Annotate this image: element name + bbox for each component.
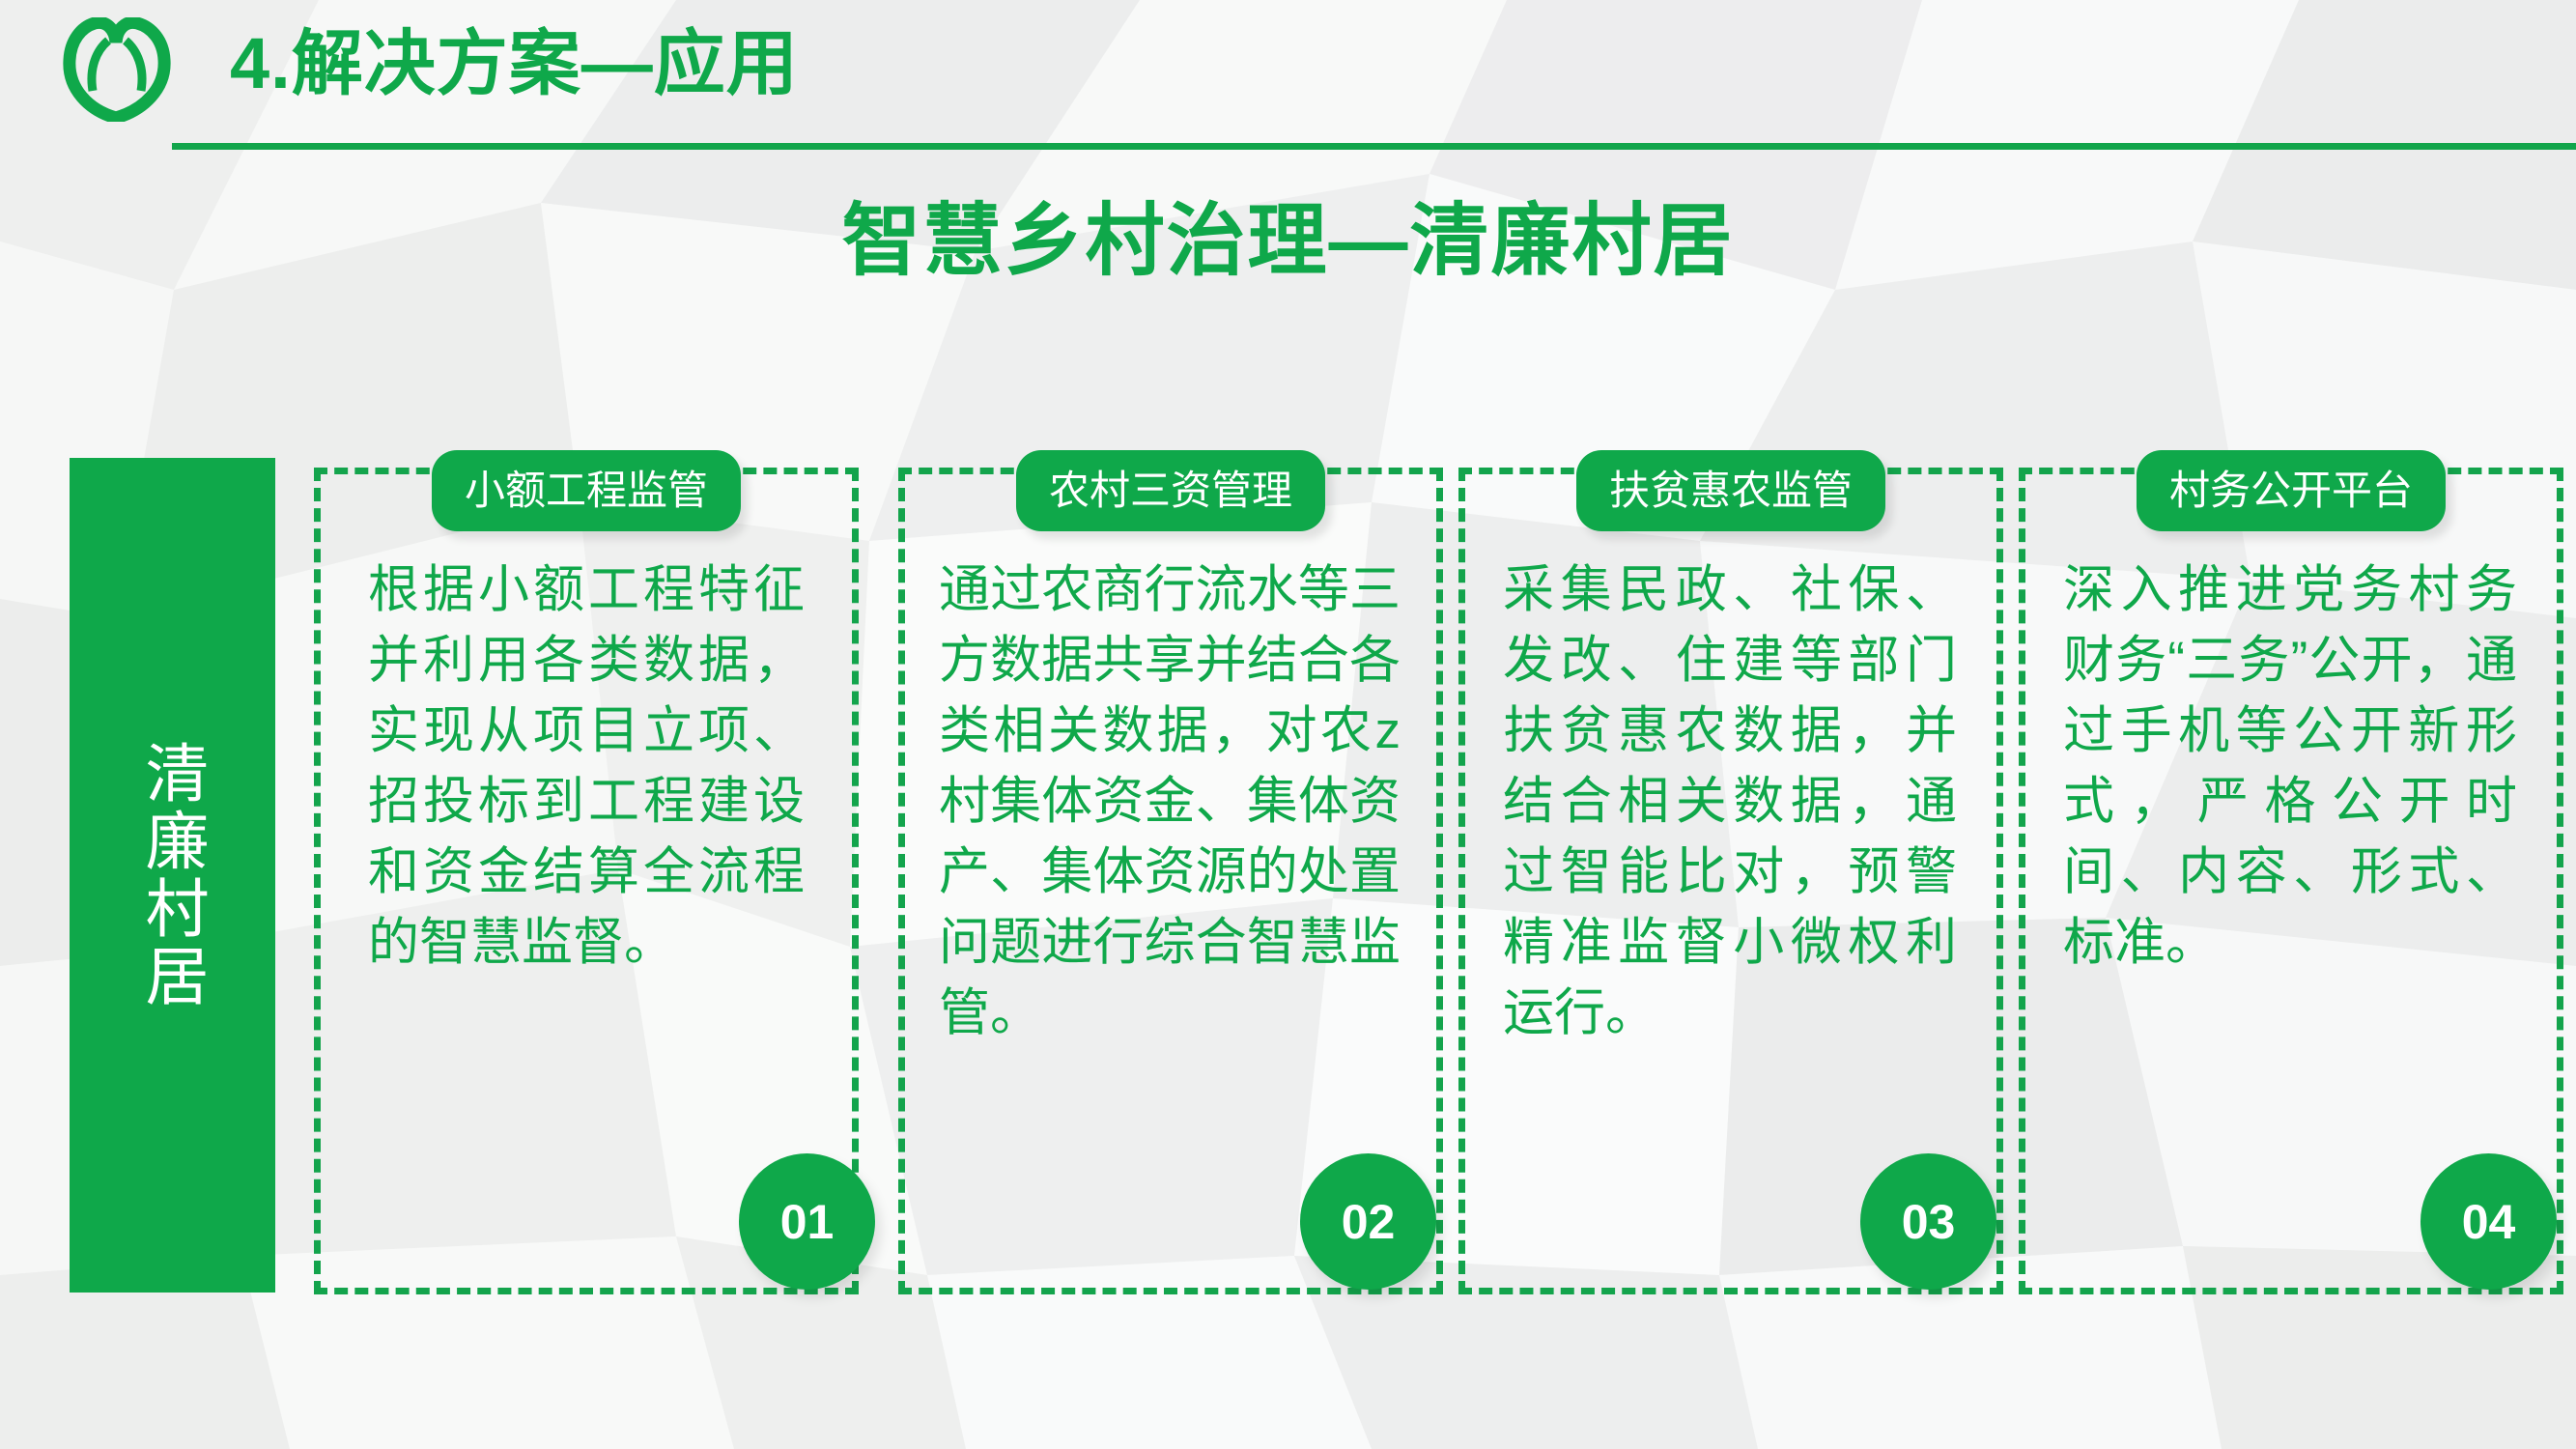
card-3-title[interactable]: 扶贫惠农监管 bbox=[1576, 450, 1885, 531]
card-2-number-badge: 02 bbox=[1300, 1153, 1436, 1290]
side-label-bar: 清廉村居 bbox=[70, 458, 275, 1293]
side-label-text: 清廉村居 bbox=[135, 740, 211, 1010]
header-divider bbox=[172, 143, 2576, 150]
section-title: 智慧乡村治理—清廉村居 bbox=[0, 184, 2576, 299]
card-3-body: 采集民政、社保、发改、住建等部门扶贫惠农数据，并结合相关数据，通过智能比对，预警… bbox=[1503, 554, 1957, 1048]
card-3-number-badge: 03 bbox=[1860, 1153, 1996, 1290]
card-4-number-badge: 04 bbox=[2420, 1153, 2557, 1290]
leaf-pair-icon bbox=[60, 17, 174, 122]
card-1-body: 根据小额工程特征并利用各类数据，实现从项目立项、招投标到工程建设和资金结算全流程… bbox=[368, 554, 805, 978]
card-4-body: 深入推进党务村务财务“三务”公开，通过手机等公开新形式，严格公开时间、内容、形式… bbox=[2063, 554, 2517, 978]
card-1-title[interactable]: 小额工程监管 bbox=[432, 450, 741, 531]
card-2-title[interactable]: 农村三资管理 bbox=[1016, 450, 1325, 531]
card-4-title[interactable]: 村务公开平台 bbox=[2137, 450, 2446, 531]
card-1-number-badge: 01 bbox=[739, 1153, 875, 1290]
page-title: 4.解决方案—应用 bbox=[230, 17, 799, 110]
card-2-body: 通过农商行流水等三方数据共享并结合各类相关数据，对农z村集体资金、集体资产、集体… bbox=[939, 554, 1401, 1048]
slide-header: 4.解决方案—应用 bbox=[0, 0, 2576, 155]
